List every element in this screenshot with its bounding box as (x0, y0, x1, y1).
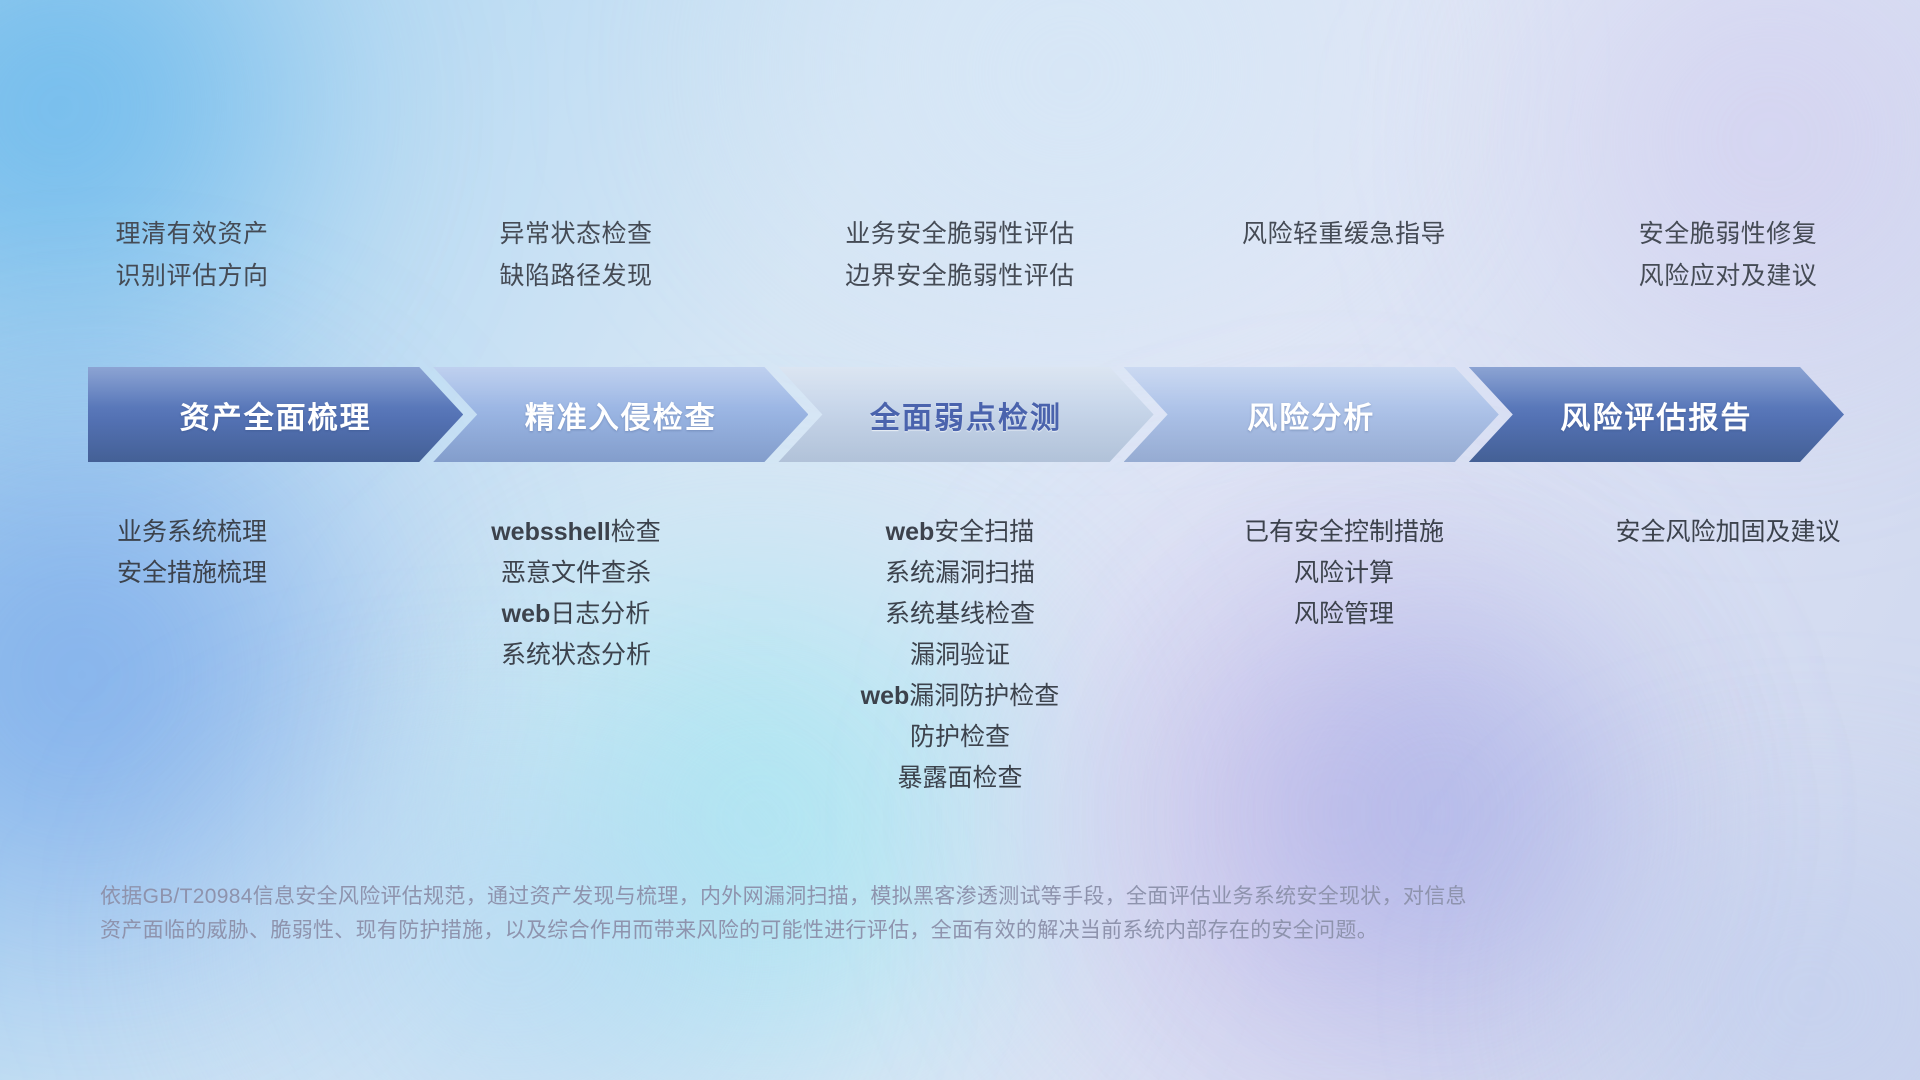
list-item: 已有安全控制措施 (1244, 520, 1444, 545)
footer-description: 依据GB/T20984信息安全风险评估规范，通过资产发现与梳理，内外网漏洞扫描，… (100, 880, 1620, 948)
list-item: 风险管理 (1294, 602, 1394, 627)
list-item: 恶意文件查杀 (501, 561, 651, 586)
list-item: 系统漏洞扫描 (885, 561, 1035, 586)
list-item: 安全风险加固及建议 (1615, 520, 1840, 545)
list-item: 防护检查 (910, 725, 1010, 750)
bottom-detail-row: 业务系统梳理安全措施梳理websshell检查恶意文件查杀web日志分析系统状态… (0, 520, 1920, 791)
top-caption-row: 理清有效资产识别评估方向异常状态检查缺陷路径发现业务安全脆弱性评估边界安全脆弱性… (0, 222, 1920, 289)
list-item: web安全扫描 (886, 520, 1035, 545)
process-step-2[interactable]: 精准入侵检查 (433, 367, 808, 462)
top-caption: 异常状态检查 (499, 222, 652, 247)
top-caption-group-3: 业务安全脆弱性评估边界安全脆弱性评估 (768, 222, 1152, 289)
top-caption: 缺陷路径发现 (499, 264, 652, 289)
list-item: 暴露面检查 (897, 766, 1022, 791)
list-item: 风险计算 (1294, 561, 1394, 586)
process-step-label: 风险分析 (1247, 393, 1375, 437)
list-item: 安全措施梳理 (117, 561, 267, 586)
list-item: 漏洞验证 (910, 643, 1010, 668)
top-caption: 边界安全脆弱性评估 (845, 264, 1075, 289)
process-step-label: 资产全面梳理 (180, 393, 372, 437)
top-caption: 安全脆弱性修复 (1639, 222, 1818, 247)
process-chevron-band: 资产全面梳理精准入侵检查全面弱点检测风险分析风险评估报告 (88, 367, 1844, 462)
process-step-label: 风险评估报告 (1560, 393, 1752, 437)
footer-line-2: 资产面临的威胁、脆弱性、现有防护措施，以及综合作用而带来风险的可能性进行评估，全… (100, 914, 1620, 948)
process-step-label: 全面弱点检测 (870, 393, 1062, 437)
detail-list-1: 业务系统梳理安全措施梳理 (0, 520, 384, 586)
list-item: web漏洞防护检查 (861, 684, 1060, 709)
detail-list-2: websshell检查恶意文件查杀web日志分析系统状态分析 (384, 520, 768, 668)
top-caption-group-1: 理清有效资产识别评估方向 (0, 222, 384, 289)
top-caption-group-4: 风险轻重缓急指导 (1152, 222, 1536, 289)
process-step-5[interactable]: 风险评估报告 (1469, 367, 1844, 462)
process-step-4[interactable]: 风险分析 (1124, 367, 1499, 462)
process-step-1[interactable]: 资产全面梳理 (88, 367, 463, 462)
detail-list-3: web安全扫描系统漏洞扫描系统基线检查漏洞验证web漏洞防护检查防护检查暴露面检… (768, 520, 1152, 791)
process-diagram: 理清有效资产识别评估方向异常状态检查缺陷路径发现业务安全脆弱性评估边界安全脆弱性… (0, 0, 1920, 1080)
detail-list-4: 已有安全控制措施风险计算风险管理 (1152, 520, 1536, 627)
list-item: web日志分析 (502, 602, 651, 627)
top-caption: 理清有效资产 (115, 222, 268, 247)
process-step-3[interactable]: 全面弱点检测 (778, 367, 1153, 462)
top-caption: 风险应对及建议 (1639, 264, 1818, 289)
detail-list-5: 安全风险加固及建议 (1536, 520, 1920, 545)
top-caption: 业务安全脆弱性评估 (845, 222, 1075, 247)
top-caption: 识别评估方向 (115, 264, 268, 289)
list-item: 业务系统梳理 (117, 520, 267, 545)
top-caption: 风险轻重缓急指导 (1242, 222, 1446, 247)
list-item: 系统状态分析 (501, 643, 651, 668)
process-step-label: 精准入侵检查 (525, 393, 717, 437)
top-caption-group-5: 安全脆弱性修复风险应对及建议 (1536, 222, 1920, 289)
list-item: websshell检查 (491, 520, 661, 545)
footer-line-1: 依据GB/T20984信息安全风险评估规范，通过资产发现与梳理，内外网漏洞扫描，… (100, 880, 1620, 914)
top-caption-group-2: 异常状态检查缺陷路径发现 (384, 222, 768, 289)
list-item: 系统基线检查 (885, 602, 1035, 627)
